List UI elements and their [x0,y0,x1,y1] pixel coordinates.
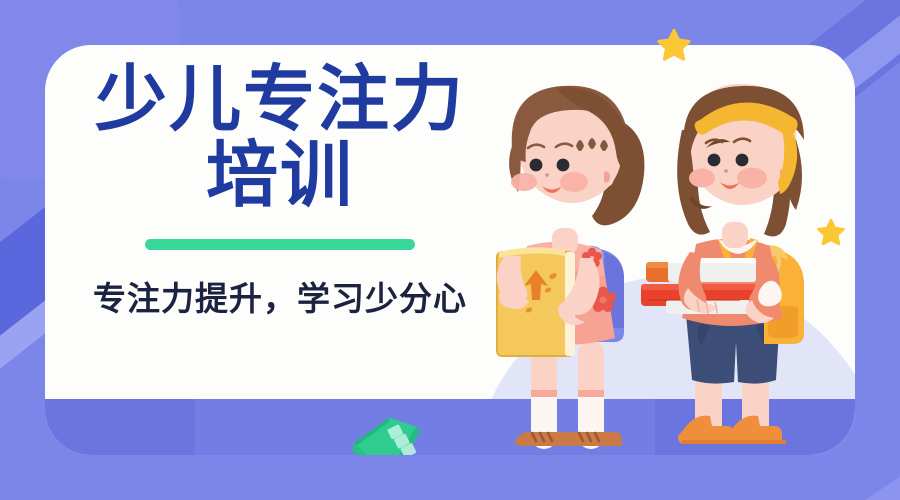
banner-root: 少儿专注力 培训 专注力提升，学习少分心 [0,0,900,500]
content-card: 少儿专注力 培训 专注力提升，学习少分心 [45,45,855,455]
yellow-star-icon-top [656,28,692,64]
page-title-line-2: 培训 [45,139,515,213]
text-block: 少儿专注力 培训 专注力提升，学习少分心 [45,63,515,320]
green-book-icon [345,413,437,455]
page-title-line-1: 少儿专注力 [45,63,515,137]
background-stripe-bottom-right [654,475,900,500]
page-subtitle: 专注力提升，学习少分心 [45,272,515,320]
yellow-star-icon-right [816,218,846,248]
green-divider [145,239,415,250]
